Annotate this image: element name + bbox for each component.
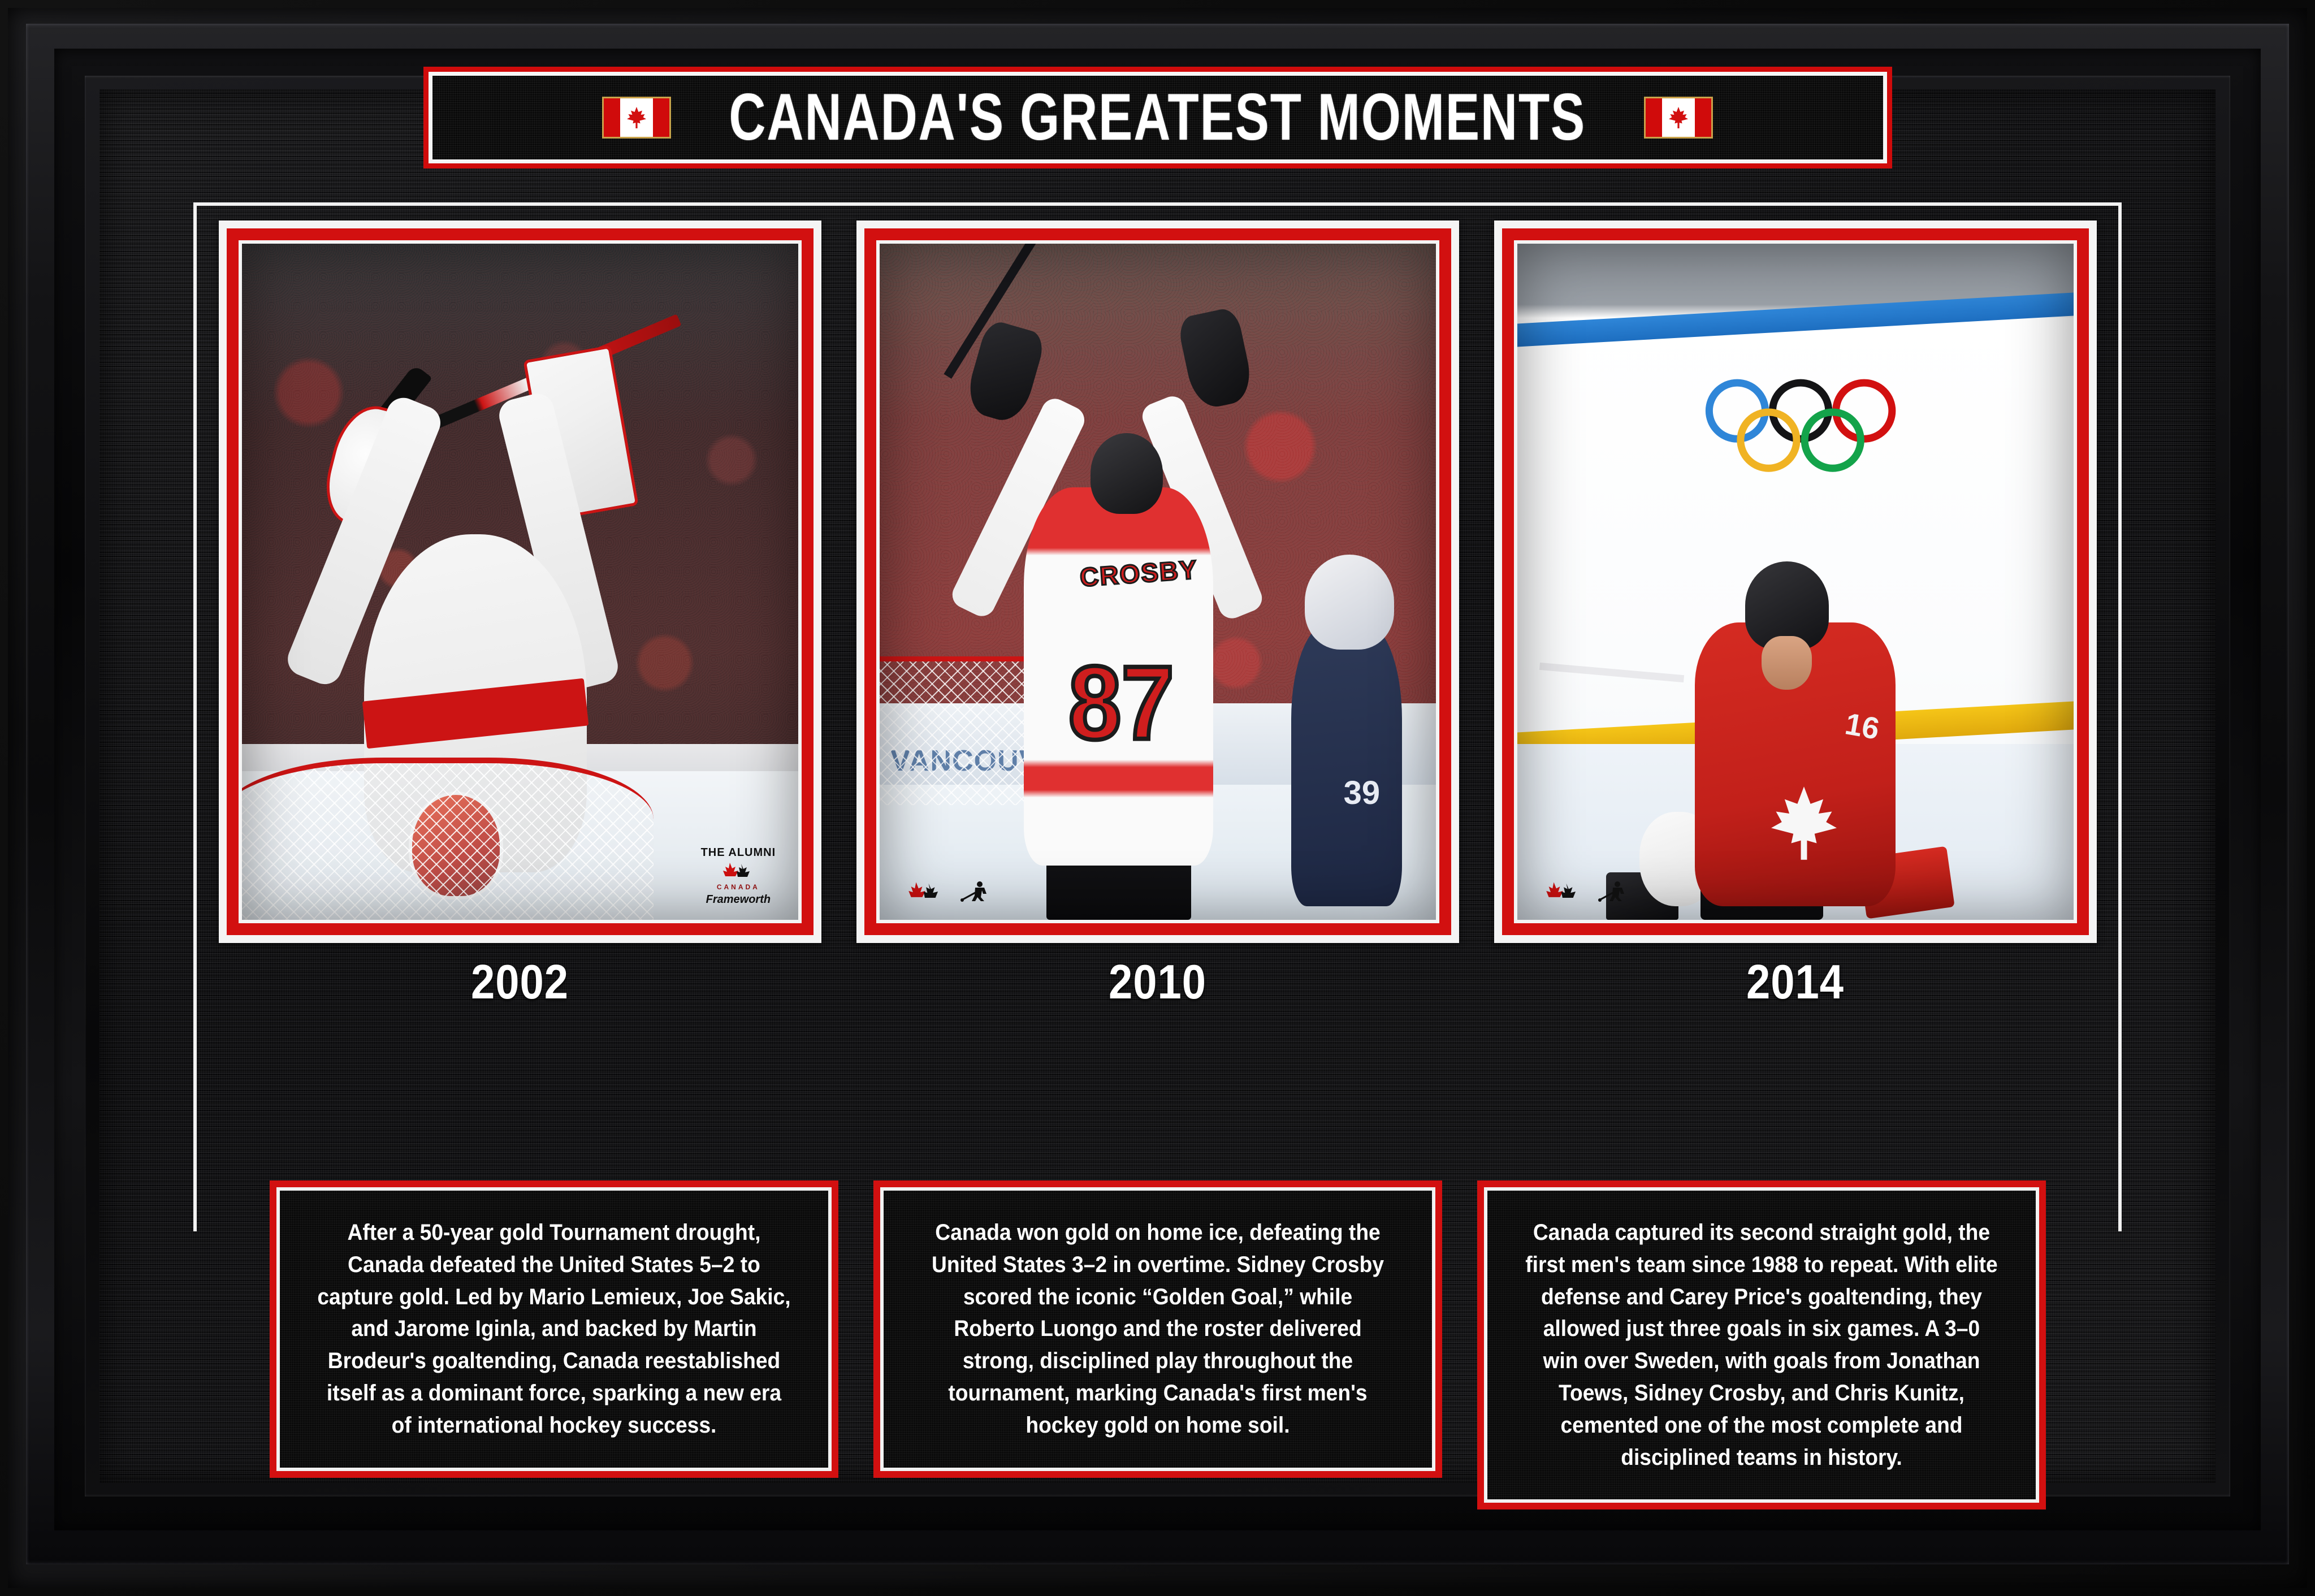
sponsor-logo-group: THE ALUMNI CANADA Frameworth <box>701 846 776 906</box>
photo-inner-liner: VANCOUVER 20 CROSBY <box>876 240 1439 923</box>
caption-text-2002: After a 50-year gold Tournament drought,… <box>317 1217 791 1442</box>
hockey-canada-logo-icon <box>1545 881 1581 902</box>
title-banner-white-liner: CANADA'S GREATEST MOMENTS <box>429 72 1887 163</box>
photo-red-mat: 16 <box>1502 228 2089 935</box>
alumni-logo: THE ALUMNI <box>701 846 776 859</box>
nhlpa-logo-icon <box>958 880 1001 903</box>
panel-year-2002: 2002 <box>219 955 821 1010</box>
hockey-canada-logo-icon <box>722 862 755 881</box>
photo-image-2014: 16 <box>1517 244 2074 920</box>
player-helmet-icon <box>1091 433 1163 514</box>
photo-panel-2002: 2002 021 <box>219 220 821 1007</box>
caption-white-liner: Canada won gold on home ice, defeating t… <box>880 1187 1435 1471</box>
photo-image-2010: VANCOUVER 20 CROSBY <box>880 244 1436 920</box>
picture-frame-outer: CANADA'S GREATEST MOMENTS <box>0 0 2315 1596</box>
goalie-mask-icon <box>1305 555 1394 649</box>
title-banner: CANADA'S GREATEST MOMENTS <box>423 67 1892 168</box>
goalie-jersey-number: 39 <box>1344 774 1381 812</box>
hockey-net-icon <box>242 758 654 920</box>
caption-red-border: After a 50-year gold Tournament drought,… <box>270 1180 838 1478</box>
photo-red-mat: VANCOUVER 20 CROSBY <box>864 228 1451 935</box>
jersey-number: 87 <box>1068 643 1174 763</box>
page-title: CANADA'S GREATEST MOMENTS <box>729 80 1586 155</box>
jersey-number: 16 <box>1842 706 1882 746</box>
caption-text-2014: Canada captured its second straight gold… <box>1524 1217 1998 1473</box>
caption-plaque-2014: Canada captured its second straight gold… <box>1477 1180 2046 1510</box>
matte-accent-line-top <box>193 202 2122 206</box>
usa-goalie <box>1291 622 1403 906</box>
photo-red-mat: 2002 021 <box>227 228 814 935</box>
photo-outer-mat: VANCOUVER 20 CROSBY <box>856 220 1459 943</box>
caption-field: Canada captured its second straight gold… <box>1487 1191 2036 1499</box>
caption-field: Canada won gold on home ice, defeating t… <box>884 1191 1432 1468</box>
photo-panel-2014: 16 <box>1494 220 2097 1007</box>
photo-inner-liner: 2002 021 <box>239 240 802 923</box>
olympic-rings-icon <box>1700 379 1901 472</box>
caption-field: After a 50-year gold Tournament drought,… <box>280 1191 828 1468</box>
hockey-canada-logo-icon <box>907 881 944 902</box>
caption-white-liner: Canada captured its second straight gold… <box>1484 1187 2039 1503</box>
canada-wordmark: CANADA <box>717 883 760 891</box>
nhlpa-logo-icon <box>1596 880 1639 903</box>
caption-row: After a 50-year gold Tournament drought,… <box>99 1180 2216 1510</box>
caption-white-liner: After a 50-year gold Tournament drought,… <box>276 1187 832 1471</box>
maple-leaf-icon <box>1762 781 1846 866</box>
caption-red-border: Canada captured its second straight gold… <box>1477 1180 2046 1510</box>
caption-plaque-2010: Canada won gold on home ice, defeating t… <box>873 1180 1442 1510</box>
matte-board: CANADA'S GREATEST MOMENTS <box>99 89 2216 1483</box>
sponsor-logo-group <box>907 880 1001 903</box>
photo-panel-2010: VANCOUVER 20 CROSBY <box>856 220 1459 1007</box>
photo-inner-liner: 16 <box>1514 240 2077 923</box>
sponsor-logo-group <box>1545 880 1639 903</box>
photo-outer-mat: 2002 021 <box>219 220 821 943</box>
panel-year-2014: 2014 <box>1494 955 2097 1010</box>
caption-red-border: Canada won gold on home ice, defeating t… <box>873 1180 1442 1478</box>
title-banner-field: CANADA'S GREATEST MOMENTS <box>432 76 1883 159</box>
photo-image-2002: 2002 021 <box>242 244 798 920</box>
photo-panel-row: 2002 021 <box>99 220 2216 1007</box>
caption-text-2010: Canada won gold on home ice, defeating t… <box>920 1217 1395 1442</box>
frameworth-logo: Frameworth <box>706 893 771 906</box>
caption-plaque-2002: After a 50-year gold Tournament drought,… <box>270 1180 838 1510</box>
panel-year-2010: 2010 <box>856 955 1459 1010</box>
canada-flag-pin-left-icon <box>602 97 671 139</box>
canada-flag-pin-right-icon <box>1644 97 1713 139</box>
photo-outer-mat: 16 <box>1494 220 2097 943</box>
